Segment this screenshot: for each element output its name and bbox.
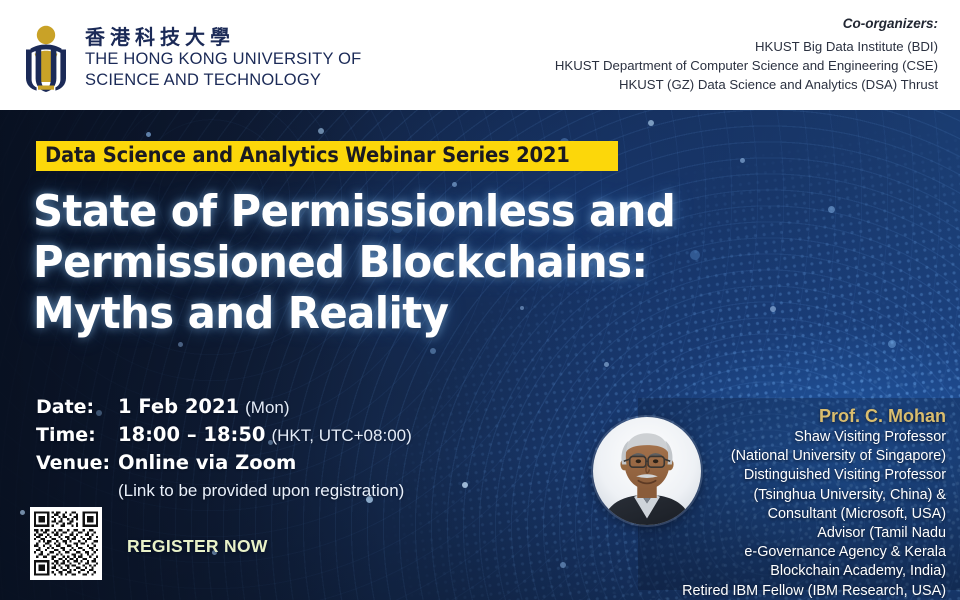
register-now-button[interactable]: REGISTER NOW (127, 536, 268, 557)
series-banner: Data Science and Analytics Webinar Serie… (36, 141, 618, 171)
time-note: (HKT, UTC+08:00) (271, 422, 411, 449)
title-line-3: Myths and Reality (33, 288, 675, 339)
speaker-info: Prof. C. Mohan Shaw Visiting Professor (… (658, 405, 946, 600)
speaker-bio-line: Advisor (Tamil Nadu (658, 524, 946, 543)
qr-code-icon (34, 511, 98, 576)
speaker-bio-line: Blockchain Academy, India) (658, 562, 946, 581)
university-name-english-line2: SCIENCE AND TECHNOLOGY (85, 70, 361, 91)
title-line-1: State of Permissionless and (33, 186, 675, 237)
speaker-name: Prof. C. Mohan (658, 405, 946, 427)
venue-value: Online via Zoom (118, 449, 296, 476)
hkust-logo-icon (18, 24, 74, 92)
speaker-bio-line: Consultant (Microsoft, USA) (658, 505, 946, 524)
series-banner-label: Data Science and Analytics Webinar Serie… (45, 144, 570, 166)
event-details: Date: 1 Feb 2021 (Mon) Time: 18:00 – 18:… (36, 393, 412, 505)
time-value: 18:00 – 18:50 (118, 421, 265, 448)
time-label: Time: (36, 422, 118, 449)
hkust-name-block: 香港科技大學 THE HONG KONG UNIVERSITY OF SCIEN… (85, 26, 361, 91)
detail-row-venue: Venue: Online via Zoom (36, 449, 412, 477)
date-label: Date: (36, 394, 118, 421)
poster-header: 香港科技大學 THE HONG KONG UNIVERSITY OF SCIEN… (0, 0, 960, 110)
date-note: (Mon) (245, 394, 289, 421)
registration-qr-code[interactable] (30, 507, 102, 580)
speaker-bio-line: Shaw Visiting Professor (658, 428, 946, 447)
speaker-bio-line: Distinguished Visiting Professor (658, 466, 946, 485)
venue-note: (Link to be provided upon registration) (118, 477, 412, 505)
university-name-english-line1: THE HONG KONG UNIVERSITY OF (85, 49, 361, 70)
speaker-bio-line: (National University of Singapore) (658, 447, 946, 466)
coorganizers-block: Co-organizers: HKUST Big Data Institute … (555, 16, 938, 94)
coorganizer-item: HKUST Department of Computer Science and… (555, 56, 938, 75)
coorganizer-item: HKUST Big Data Institute (BDI) (555, 37, 938, 56)
date-value: 1 Feb 2021 (118, 393, 239, 420)
venue-label: Venue: (36, 450, 118, 477)
title-line-2: Permissioned Blockchains: (33, 237, 675, 288)
webinar-poster: 香港科技大學 THE HONG KONG UNIVERSITY OF SCIEN… (0, 0, 960, 600)
hkust-branding: 香港科技大學 THE HONG KONG UNIVERSITY OF SCIEN… (18, 24, 361, 92)
speaker-bio-line: (Tsinghua University, China) & (658, 486, 946, 505)
detail-row-time: Time: 18:00 – 18:50 (HKT, UTC+08:00) (36, 421, 412, 449)
university-name-chinese: 香港科技大學 (85, 26, 361, 49)
coorganizer-item: HKUST (GZ) Data Science and Analytics (D… (555, 75, 938, 94)
speaker-bio-line: Retired IBM Fellow (IBM Research, USA) (658, 582, 946, 600)
poster-title: State of Permissionless and Permissioned… (33, 186, 709, 339)
detail-row-date: Date: 1 Feb 2021 (Mon) (36, 393, 412, 421)
coorganizers-title: Co-organizers: (555, 16, 938, 31)
speaker-bio-line: e-Governance Agency & Kerala (658, 543, 946, 562)
